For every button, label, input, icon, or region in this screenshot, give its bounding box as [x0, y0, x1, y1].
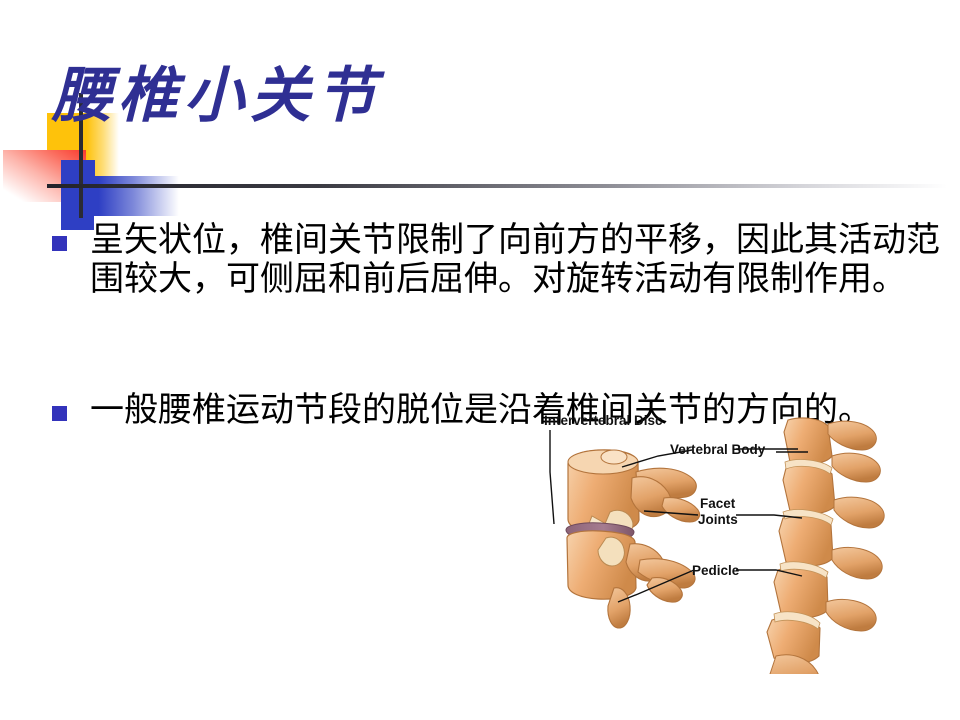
label-facet-joints-line2: Joints — [698, 512, 738, 527]
bullet-item: 呈矢状位，椎间关节限制了向前方的平移，因此其活动范围较大，可侧屈和前后屈伸。对旋… — [52, 222, 942, 300]
label-pedicle: Pedicle — [692, 563, 740, 578]
bullet-text: 呈矢状位，椎间关节限制了向前方的平移，因此其活动范围较大，可侧屈和前后屈伸。对旋… — [90, 222, 942, 300]
label-vertebral-body: Vertebral Body — [670, 442, 766, 457]
lumbar-spine-illustration: Intervertebral Disc Vertebral Body Facet… — [540, 412, 960, 674]
square-bullet-icon — [52, 236, 67, 251]
label-facet-joints-line1: Facet — [700, 496, 736, 511]
square-bullet-icon — [52, 406, 67, 421]
decor-horizontal-rule — [47, 184, 947, 188]
slide-canvas: 腰椎小关节 呈矢状位，椎间关节限制了向前方的平移，因此其活动范围较大，可侧屈和前… — [0, 0, 960, 720]
vertebra-detail-view — [566, 450, 700, 628]
slide-title: 腰椎小关节 — [52, 66, 382, 126]
label-intervertebral-disc: Intervertebral Disc — [544, 413, 663, 428]
lateral-spine-column — [767, 418, 884, 674]
